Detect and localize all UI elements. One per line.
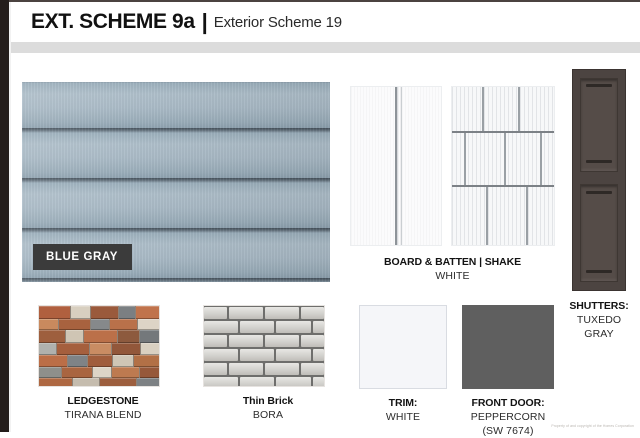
brick-unit	[313, 377, 324, 387]
trim-label: TRIM:	[355, 396, 451, 410]
stone-course	[39, 330, 159, 343]
stone-unit	[39, 306, 70, 319]
stone-unit	[39, 378, 72, 387]
thin-brick-color: BORA	[203, 408, 333, 422]
stone-unit	[68, 355, 87, 367]
page-subtitle: Exterior Scheme 19	[214, 14, 342, 31]
shake-seam	[540, 133, 542, 185]
ledgestone-swatch	[38, 305, 160, 387]
board-batten-swatch	[350, 86, 442, 246]
title-divider: |	[202, 11, 208, 33]
stone-unit	[39, 330, 65, 343]
stone-unit	[141, 343, 159, 355]
board-batten-shake-group: BOARD & BATTEN | SHAKE WHITE	[350, 86, 555, 283]
brick-unit	[229, 335, 263, 347]
brick-unit	[204, 377, 238, 387]
front-door-color-code: (SW 7674)	[456, 424, 560, 438]
color-scheme-board: EXT. SCHEME 9a | Exterior Scheme 19 BLUE…	[0, 0, 640, 432]
trim-color: WHITE	[355, 410, 451, 424]
stone-course	[39, 343, 159, 355]
brick-course	[204, 307, 324, 319]
brick-unit	[276, 377, 310, 387]
front-door-group: FRONT DOOR: PEPPERCORN (SW 7674)	[456, 305, 560, 438]
stone-unit	[91, 319, 109, 330]
thin-brick-swatch	[203, 305, 325, 387]
brick-unit	[204, 335, 227, 347]
brick-unit	[204, 349, 238, 361]
shutter-raised-panel	[580, 184, 618, 282]
stone-unit	[140, 330, 159, 343]
left-rail-decoration	[0, 0, 9, 432]
shutter-raised-panel	[580, 78, 618, 172]
stone-unit	[100, 378, 137, 387]
shake-seam	[464, 133, 466, 185]
board-batten-shake-label: BOARD & BATTEN | SHAKE	[350, 255, 555, 269]
brick-unit	[265, 363, 299, 375]
brick-unit	[240, 349, 274, 361]
ledgestone-group: LEDGESTONE TIRANA BLEND	[38, 305, 168, 422]
shake-seam	[486, 187, 488, 246]
brick-unit	[204, 321, 238, 333]
shake-seam	[482, 87, 484, 131]
board-batten-shake-caption: BOARD & BATTEN | SHAKE WHITE	[350, 255, 555, 283]
stone-unit	[110, 319, 138, 330]
thin-brick-group: Thin Brick BORA	[203, 305, 333, 422]
brick-course	[204, 335, 324, 347]
brick-unit	[204, 307, 227, 319]
brick-unit	[240, 321, 274, 333]
shutters-group: SHUTTERS: TUXEDO GRAY	[564, 69, 634, 341]
shutter-groove	[586, 84, 612, 87]
ledgestone-label: LEDGESTONE	[38, 394, 168, 408]
stone-unit	[39, 319, 58, 330]
brick-unit	[204, 363, 227, 375]
siding-color-tag: BLUE GRAY	[33, 244, 132, 270]
board-batten-shake-images	[350, 86, 555, 246]
brick-unit	[301, 335, 324, 347]
brick-course	[204, 321, 324, 333]
stone-unit	[113, 355, 133, 367]
brick-unit	[313, 321, 324, 333]
stone-unit	[84, 330, 116, 343]
swatch-board: BLUE GRAY	[11, 53, 640, 432]
stone-unit	[39, 343, 56, 355]
stone-course	[39, 319, 159, 330]
brick-unit	[229, 307, 263, 319]
brick-course	[204, 349, 324, 361]
brick-course	[204, 377, 324, 387]
shutter-groove	[586, 160, 612, 163]
brick-course	[204, 363, 324, 375]
header-gray-band	[11, 42, 640, 53]
brick-unit	[301, 363, 324, 375]
shake-seam	[504, 133, 506, 185]
trim-swatch	[359, 305, 447, 389]
brick-unit	[240, 377, 274, 387]
shake-seam	[518, 87, 520, 131]
shake-course-line	[452, 185, 554, 187]
thin-brick-label: Thin Brick	[203, 394, 333, 408]
board-batten-shake-color: WHITE	[350, 269, 555, 283]
brick-unit	[265, 307, 299, 319]
stone-unit	[88, 355, 112, 367]
ledgestone-color: TIRANA BLEND	[38, 408, 168, 422]
stone-unit	[140, 367, 159, 378]
stone-course	[39, 306, 159, 319]
stone-unit	[134, 355, 159, 367]
ledgestone-caption: LEDGESTONE TIRANA BLEND	[38, 394, 168, 422]
stone-unit	[71, 306, 90, 319]
trim-caption: TRIM: WHITE	[355, 396, 451, 424]
watermark-text: Property of and copyright of the Homes C…	[551, 424, 634, 428]
shutters-color-line1: TUXEDO	[564, 313, 634, 327]
trim-group: TRIM: WHITE	[355, 305, 451, 424]
stone-unit	[39, 355, 67, 367]
stone-unit	[137, 378, 159, 387]
siding-swatch-blue-gray: BLUE GRAY	[22, 82, 330, 282]
front-door-swatch	[462, 305, 554, 389]
shutters-caption: SHUTTERS: TUXEDO GRAY	[564, 299, 634, 341]
batten-strip	[397, 87, 402, 245]
shutter-swatch	[572, 69, 626, 291]
stone-course	[39, 355, 159, 367]
front-door-label: FRONT DOOR:	[456, 396, 560, 410]
stone-unit	[119, 306, 134, 319]
shutter-groove	[586, 191, 612, 194]
brick-unit	[276, 349, 310, 361]
stone-unit	[39, 367, 61, 378]
stone-unit	[73, 378, 98, 387]
stone-unit	[91, 306, 118, 319]
thin-brick-caption: Thin Brick BORA	[203, 394, 333, 422]
stone-unit	[112, 343, 140, 355]
brick-unit	[301, 307, 324, 319]
stone-unit	[118, 330, 140, 343]
stone-unit	[138, 319, 159, 330]
stone-unit	[112, 367, 139, 378]
stone-unit	[66, 330, 84, 343]
brick-unit	[276, 321, 310, 333]
front-door-color-name: PEPPERCORN	[456, 410, 560, 424]
shutter-groove	[586, 270, 612, 273]
shutters-label: SHUTTERS:	[564, 299, 634, 313]
stone-unit	[93, 367, 111, 378]
stone-unit	[90, 343, 111, 355]
shake-swatch	[451, 86, 555, 246]
shake-course-line	[452, 131, 554, 133]
shake-grain-texture	[452, 87, 554, 245]
brick-unit	[313, 349, 324, 361]
shake-seam	[526, 187, 528, 246]
stone-unit	[59, 319, 89, 330]
shutters-color-line2: GRAY	[564, 327, 634, 341]
page-header: EXT. SCHEME 9a | Exterior Scheme 19	[11, 2, 640, 42]
stone-unit	[57, 343, 89, 355]
brick-unit	[265, 335, 299, 347]
stone-unit	[136, 306, 159, 319]
page-title: EXT. SCHEME 9a	[31, 10, 195, 34]
stone-unit	[62, 367, 92, 378]
stone-course	[39, 378, 159, 387]
stone-course	[39, 367, 159, 378]
brick-unit	[229, 363, 263, 375]
